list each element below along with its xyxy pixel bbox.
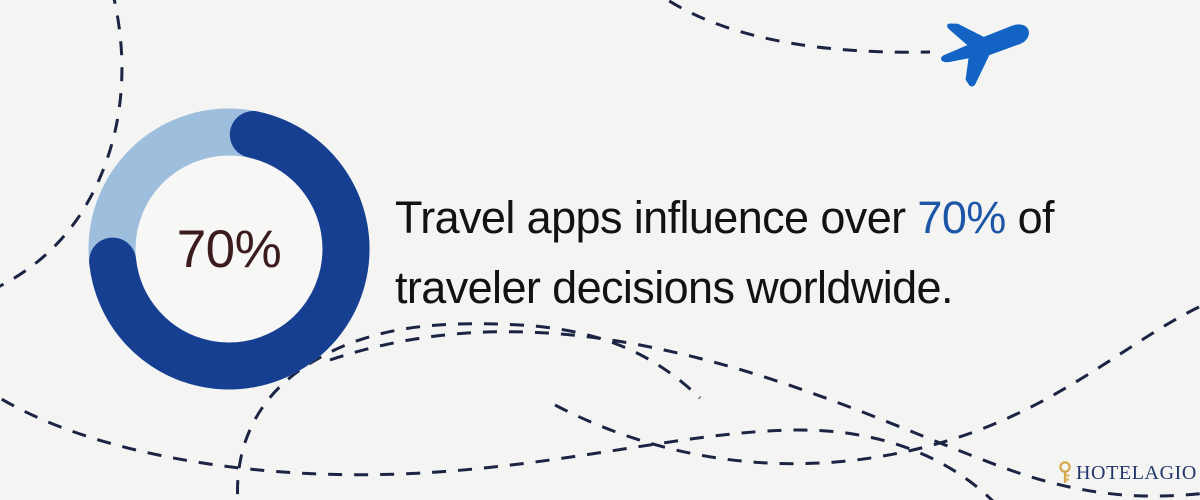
logo[interactable]: HOTELAGIO xyxy=(1058,461,1197,485)
headline-part2: of xyxy=(1006,192,1054,243)
headline: Travel apps influence over 70% of travel… xyxy=(395,183,1155,323)
headline-line2: traveler decisions worldwide. xyxy=(395,262,953,313)
logo-wordmark: HOTELAGIO xyxy=(1076,463,1197,483)
key-icon xyxy=(1058,461,1072,485)
airplane-icon xyxy=(925,8,1045,93)
dashed-path-lower-left xyxy=(0,385,1010,500)
donut-chart xyxy=(88,108,370,390)
dashed-path-plane-trail xyxy=(648,0,930,52)
headline-accent-percent: 70% xyxy=(917,192,1005,243)
donut-inner-disc xyxy=(136,156,322,342)
infographic-canvas: 70% Travel apps influence over 70% of tr… xyxy=(0,0,1200,500)
headline-part1: Travel apps influence over xyxy=(395,192,917,243)
